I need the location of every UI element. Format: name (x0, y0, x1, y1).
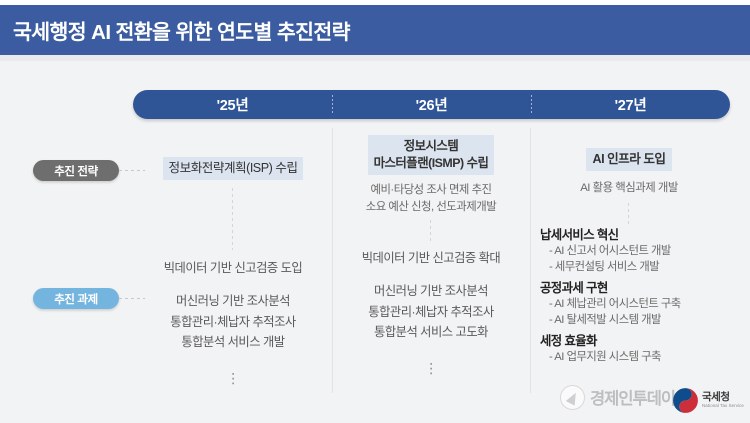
strategy-heading-2027: AI 인프라 도입 (586, 148, 671, 171)
task-group-title: 공정과세 구현 (532, 280, 728, 297)
task-more-ellipsis-2026: ⋮ (332, 365, 530, 371)
strategy-heading-line2: 마스터플랜(ISMP) 수립 (374, 155, 489, 172)
task-list-2026: 머신러닝 기반 조사분석 통합관리·체납자 추적조사 통합분석 서비스 고도화 (332, 281, 530, 343)
strategy-subtitle-line: AI 활용 핵심과제 개발 (530, 180, 728, 197)
year-tab-2026[interactable]: '26년 (332, 90, 531, 119)
strategy-drop-line-2027 (628, 203, 629, 224)
task-group-item: - 세무컨설팅 서비스 개발 (532, 260, 728, 276)
page-title: 국세행정 AI 전환을 위한 연도별 추진전략 (0, 15, 350, 45)
task-item: 통합관리·체납자 추적조사 (134, 312, 332, 333)
nts-name-kr: 국세청 (702, 392, 744, 403)
title-banner: 국세행정 AI 전환을 위한 연도별 추진전략 (0, 5, 750, 55)
ellipsis-glyph: ⋮ (332, 365, 530, 371)
strategy-drop-line-2025 (232, 188, 233, 250)
row-label-tasks: 추진 과제 (33, 288, 119, 309)
task-item: 머신러닝 기반 조사분석 (134, 291, 332, 312)
task-group: 공정과세 구현 - AI 체납관리 어시스턴트 구축 - AI 탈세적발 시스템… (532, 280, 728, 328)
task-group: 납세서비스 혁신 - AI 신고서 어시스턴트 개발 - 세무컨설팅 서비스 개… (532, 227, 728, 275)
task-group-item: - AI 탈세적발 시스템 개발 (532, 313, 728, 329)
task-group-item: - AI 체납관리 어시스턴트 구축 (532, 297, 728, 313)
year-divider-2 (531, 95, 532, 114)
nts-name-en: National Tax Service (702, 404, 744, 408)
task-lead-2026: 빅데이터 기반 신고검증 확대 (332, 248, 530, 266)
strategy-heading-2026: 정보시스템 마스터플랜(ISMP) 수립 (368, 135, 495, 175)
task-item: 통합분석 서비스 개발 (134, 332, 332, 353)
strategy-subtitle-2027: AI 활용 핵심과제 개발 (530, 180, 728, 197)
watermark-text: 경제인투데이 (590, 385, 675, 409)
ellipsis-glyph: ⋮ (134, 375, 332, 381)
task-item: 통합분석 서비스 고도화 (332, 322, 530, 343)
year-divider-1 (332, 95, 333, 114)
taeguk-icon (672, 387, 699, 414)
strategy-subtitle-2026: 예비·타당성 조사 면제 추진 소요 예산 신청, 선도과제개발 (332, 182, 530, 216)
task-group-title: 세정 효율화 (532, 333, 728, 350)
nts-wordmark: 국세청 National Tax Service (702, 392, 744, 409)
strategy-subtitle-line: 예비·타당성 조사 면제 추진 (332, 182, 530, 199)
column-2025: 정보화전략계획(ISP) 수립 빅데이터 기반 신고검증 도입 머신러닝 기반 … (134, 128, 332, 381)
column-2027: AI 인프라 도입 AI 활용 핵심과제 개발 납세서비스 혁신 - AI 신고… (530, 128, 728, 371)
task-item: 머신러닝 기반 조사분석 (332, 281, 530, 302)
infographic-canvas: 국세행정 AI 전환을 위한 연도별 추진전략 '25년 '26년 '27년 추… (0, 0, 750, 423)
task-more-ellipsis-2025: ⋮ (134, 375, 332, 381)
task-group-item: - AI 업무지원 시스템 구축 (532, 350, 728, 366)
task-group: 세정 효율화 - AI 업무지원 시스템 구축 (532, 333, 728, 366)
task-group-title: 납세서비스 혁신 (532, 227, 728, 244)
timeline-year-bar: '25년 '26년 '27년 (133, 90, 730, 119)
strategy-drop-line-2026 (430, 220, 431, 244)
nts-logo: 국세청 National Tax Service (672, 383, 746, 417)
task-item: 통합관리·체납자 추적조사 (332, 302, 530, 323)
year-tab-2027[interactable]: '27년 (531, 90, 730, 119)
row-label-strategy: 추진 전략 (33, 160, 119, 181)
watermark-arrow-icon (560, 385, 585, 410)
task-lead-2025: 빅데이터 기반 신고검증 도입 (134, 258, 332, 276)
strategy-heading-2025: 정보화전략계획(ISP) 수립 (163, 157, 304, 180)
year-tab-2025[interactable]: '25년 (133, 90, 332, 119)
strategy-subtitle-line: 소요 예산 신청, 선도과제개발 (332, 199, 530, 216)
strategy-heading-line1: 정보시스템 (374, 138, 489, 155)
task-group-item: - AI 신고서 어시스턴트 개발 (532, 244, 728, 260)
task-list-2025: 머신러닝 기반 조사분석 통합관리·체납자 추적조사 통합분석 서비스 개발 (134, 291, 332, 353)
column-2026: 정보시스템 마스터플랜(ISMP) 수립 예비·타당성 조사 면제 추진 소요 … (332, 128, 530, 371)
banner-underline (0, 55, 750, 61)
